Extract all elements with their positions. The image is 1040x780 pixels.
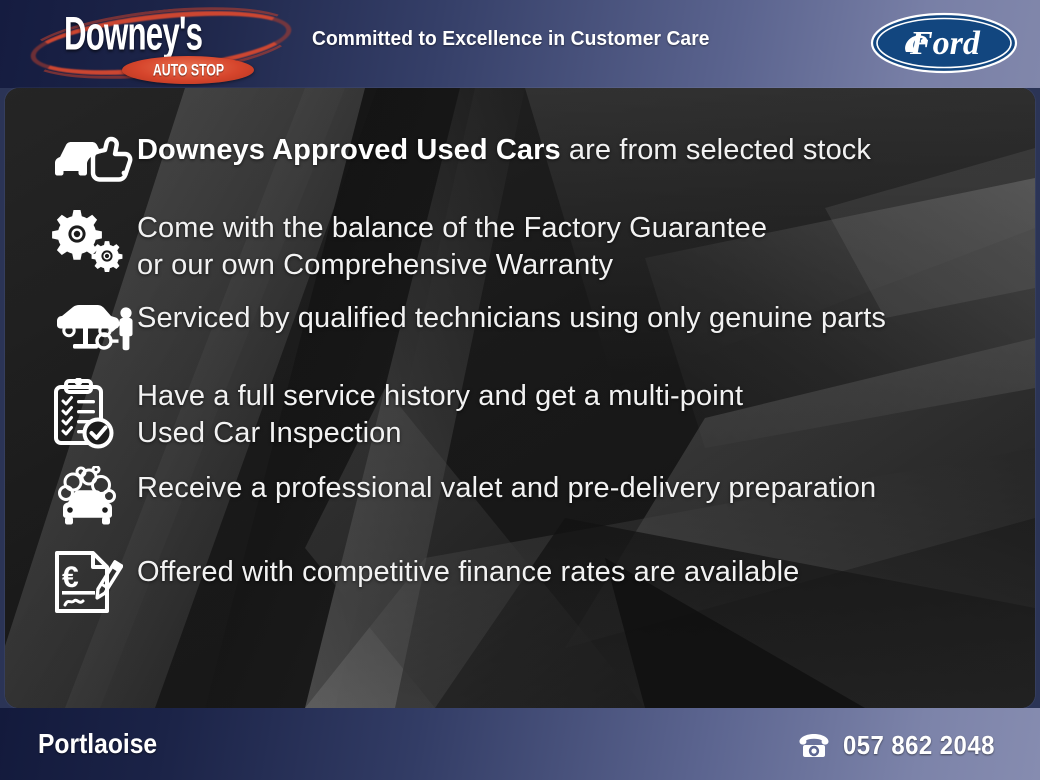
feature-line: Downeys Approved Used Cars are from sele… bbox=[137, 132, 871, 169]
svg-text:€: € bbox=[62, 561, 79, 594]
feature-line: Have a full service history and get a mu… bbox=[137, 378, 743, 415]
feature-line: Receive a professional valet and pre-del… bbox=[137, 470, 876, 507]
feature-text: Come with the balance of the Factory Gua… bbox=[137, 206, 767, 284]
feature-row: Receive a professional valet and pre-del… bbox=[41, 466, 1007, 530]
feature-text: Offered with competitive finance rates a… bbox=[137, 550, 799, 591]
logo-sub-text: AUTO STOP bbox=[152, 61, 223, 80]
logo-name-text: Downey's bbox=[64, 8, 202, 61]
feature-line: Used Car Inspection bbox=[137, 415, 743, 452]
car-wash-icon bbox=[41, 466, 137, 530]
gears-icon bbox=[41, 206, 137, 286]
feature-text: Serviced by qualified technicians using … bbox=[137, 296, 886, 337]
svg-text:Ford: Ford bbox=[909, 25, 981, 62]
feature-rest: are from selected stock bbox=[561, 134, 871, 166]
feature-row: Come with the balance of the Factory Gua… bbox=[41, 206, 1007, 286]
footer-bar: Portlaoise 057 862 2048 bbox=[0, 708, 1040, 780]
telephone-icon bbox=[797, 731, 831, 761]
feature-line: Serviced by qualified technicians using … bbox=[137, 300, 886, 337]
branch-name: Portlaoise bbox=[38, 728, 157, 760]
feature-line: Come with the balance of the Factory Gua… bbox=[137, 210, 767, 247]
feature-row: Serviced by qualified technicians using … bbox=[41, 296, 1007, 360]
advert-page: Downey's AUTO STOP Committed to Excellen… bbox=[0, 0, 1040, 780]
logo-oval-badge: AUTO STOP bbox=[122, 56, 254, 84]
feature-line: Offered with competitive finance rates a… bbox=[137, 554, 799, 591]
feature-line: or our own Comprehensive Warranty bbox=[137, 247, 767, 284]
feature-text: Have a full service history and get a mu… bbox=[137, 374, 743, 452]
features-list: Downeys Approved Used Cars are from sele… bbox=[5, 88, 1035, 708]
features-panel: Downeys Approved Used Cars are from sele… bbox=[5, 88, 1035, 708]
ford-oval-logo-icon[interactable]: Ford bbox=[870, 12, 1018, 74]
tagline-text: Committed to Excellence in Customer Care bbox=[312, 28, 710, 51]
feature-row: Downeys Approved Used Cars are from sele… bbox=[41, 128, 1007, 190]
feature-row: € Offered with competitive finance rates… bbox=[41, 550, 1007, 614]
euro-document-pen-icon: € bbox=[41, 550, 137, 614]
feature-text: Receive a professional valet and pre-del… bbox=[137, 466, 876, 507]
contact-block[interactable]: 057 862 2048 bbox=[797, 730, 1008, 761]
feature-row: Have a full service history and get a mu… bbox=[41, 374, 1007, 454]
feature-text: Downeys Approved Used Cars are from sele… bbox=[137, 128, 871, 169]
downeys-logo[interactable]: Downey's AUTO STOP bbox=[22, 4, 300, 84]
car-lift-technician-icon bbox=[41, 296, 137, 360]
feature-emphasis: Downeys Approved Used Cars bbox=[137, 134, 561, 166]
phone-number[interactable]: 057 862 2048 bbox=[843, 730, 995, 761]
header-bar: Downey's AUTO STOP Committed to Excellen… bbox=[0, 0, 1040, 88]
clipboard-checklist-icon bbox=[41, 374, 137, 454]
car-thumbs-up-icon bbox=[41, 128, 137, 190]
